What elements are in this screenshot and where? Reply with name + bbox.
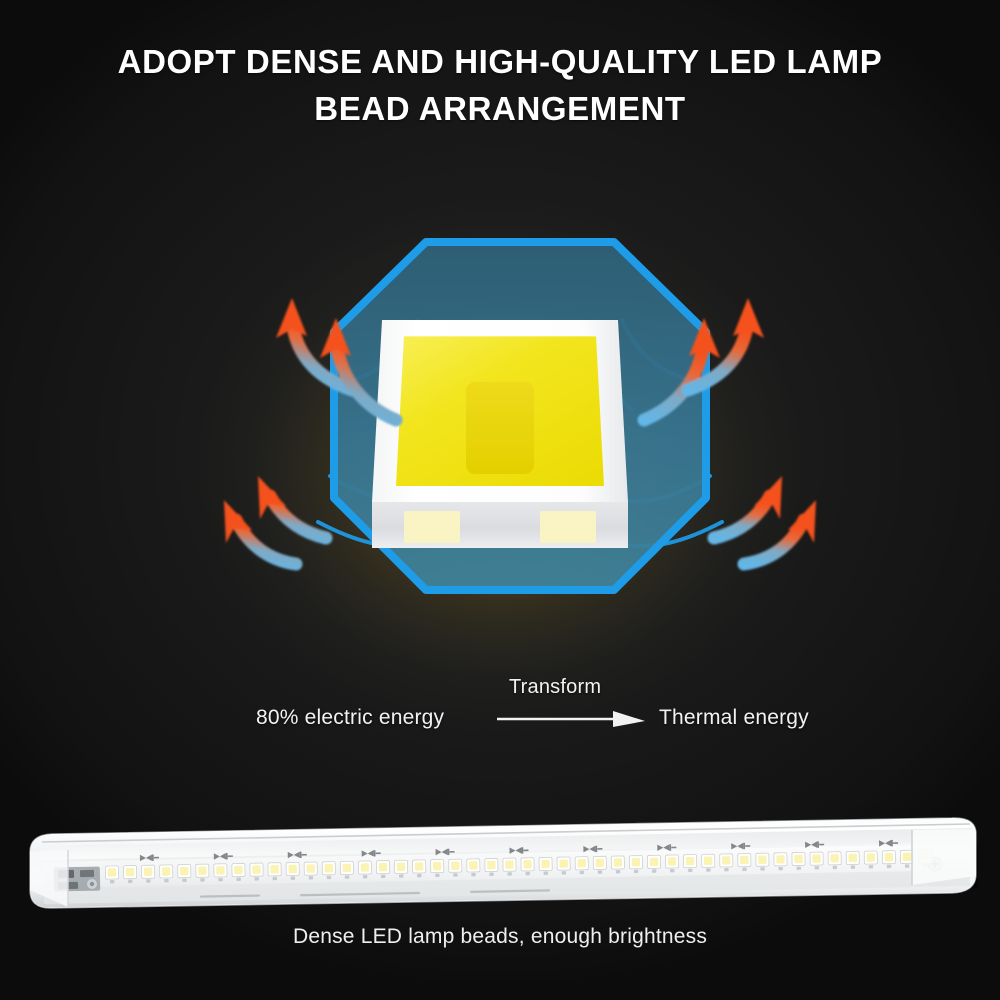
- strip-caption: Dense LED lamp beads, enough brightness: [0, 925, 1000, 949]
- promo-graphic: ADOPT DENSE AND HIGH-QUALITY LED LAMP BE…: [0, 0, 1000, 1000]
- transform-arrow-icon: [495, 708, 645, 730]
- transform-label: Transform: [509, 676, 601, 699]
- thermal-energy-label: Thermal energy: [659, 706, 809, 730]
- energy-transform-row: 80% electric energy Transform Thermal en…: [0, 688, 1000, 758]
- page-title: ADOPT DENSE AND HIGH-QUALITY LED LAMP BE…: [0, 38, 1000, 132]
- heat-arrow: [258, 476, 326, 538]
- led-package: [372, 320, 628, 548]
- led-strip-product: [0, 812, 1000, 922]
- electric-energy-label: 80% electric energy: [256, 706, 444, 730]
- title-line-1: ADOPT DENSE AND HIGH-QUALITY LED LAMP: [0, 38, 1000, 85]
- led-die: [466, 382, 534, 474]
- led-chip-diagram: [0, 170, 1000, 690]
- title-line-2: BEAD ARRANGEMENT: [0, 85, 1000, 132]
- contact-pad-left: [404, 511, 460, 543]
- contact-pad-right: [540, 511, 596, 543]
- heat-arrow: [714, 476, 782, 538]
- end-cap-right: [912, 829, 976, 885]
